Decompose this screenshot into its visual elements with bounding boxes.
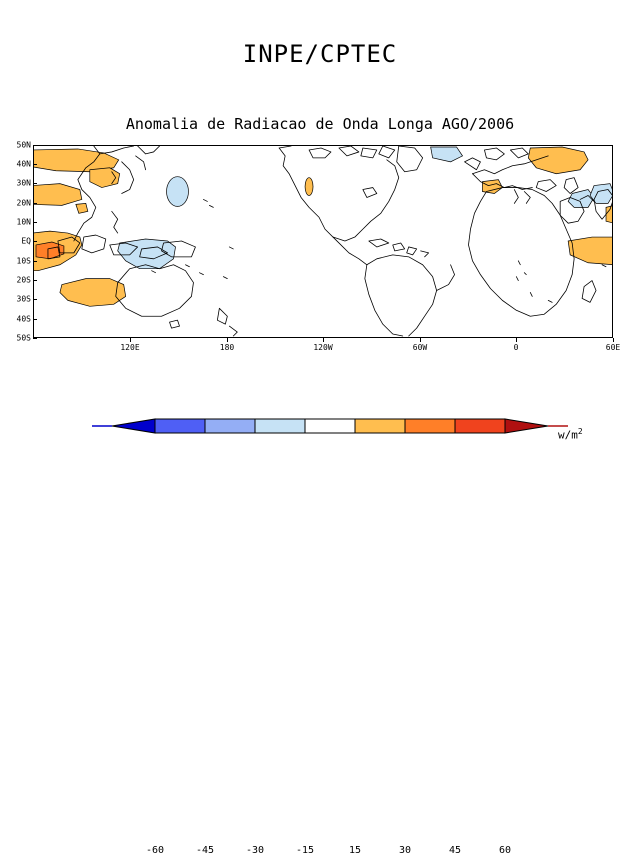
colorbar-over-arrow: [505, 419, 548, 433]
x-tick-mark: [130, 338, 131, 342]
colorbar-tick-15: 15: [349, 845, 361, 856]
colorbar-band--45--30: [205, 419, 255, 433]
units-text: w/m: [558, 429, 578, 442]
map-canvas: [34, 146, 612, 337]
y-tick-mark: [33, 222, 37, 223]
x-tick-label-60e: 60E: [606, 343, 620, 352]
region-baja-california-positive: [305, 178, 313, 196]
y-tick-label-30n: 30N: [17, 179, 31, 188]
colorbar-tick--45: -45: [196, 845, 214, 856]
colorbar-tick--15: -15: [296, 845, 314, 856]
region-south-china-positive: [34, 184, 82, 206]
region-iberia-morocco-positive: [482, 180, 502, 194]
region-korea-japan-positive: [90, 168, 120, 188]
colorbar: -60 -45 -30 -15 15 30 45 60: [0, 414, 640, 454]
colorbar-under-arrow: [112, 419, 155, 433]
page-title: INPE/CPTEC: [0, 40, 640, 68]
y-tick-mark: [33, 338, 37, 339]
y-tick-label-20s: 20S: [17, 276, 31, 285]
colorbar-tick-60: 60: [499, 845, 511, 856]
colorbar-tick--30: -30: [246, 845, 264, 856]
region-caspian-mesopotamia-positive: [528, 147, 588, 174]
region-indochina-positive: [76, 203, 88, 213]
colorbar-band--60--45: [155, 419, 205, 433]
region-australia-interior-positive: [60, 279, 126, 307]
colorbar-tick-45: 45: [449, 845, 461, 856]
y-tick-label-50n: 50N: [17, 141, 31, 150]
colorbar-tick-30: 30: [399, 845, 411, 856]
x-tick-label-60w: 60W: [413, 343, 427, 352]
units-label: w/m2: [558, 427, 583, 442]
x-tick-label-180: 180: [220, 343, 234, 352]
x-tick-label-120e: 120E: [120, 343, 139, 352]
region-southern-indian-ocean-positive: [568, 237, 612, 265]
y-tick-mark: [33, 280, 37, 281]
y-tick-mark: [33, 261, 37, 262]
colorbar-band-45-60: [455, 419, 505, 433]
anomaly-shading-layer: [34, 147, 612, 306]
y-tick-label-10n: 10N: [17, 218, 31, 227]
y-tick-mark: [33, 203, 37, 204]
x-tick-label-120w: 120W: [313, 343, 332, 352]
y-tick-label-30s: 30S: [17, 295, 31, 304]
colorbar-band--30--15: [255, 419, 305, 433]
y-tick-label-50s: 50S: [17, 334, 31, 343]
colorbar-band-15-30: [355, 419, 405, 433]
region-north-central-pacific-negative: [167, 177, 189, 207]
y-tick-mark: [33, 145, 37, 146]
x-tick-mark: [323, 338, 324, 342]
x-tick-mark: [420, 338, 421, 342]
x-tick-mark: [516, 338, 517, 342]
y-tick-mark: [33, 164, 37, 165]
y-tick-label-10s: 10S: [17, 257, 31, 266]
chart-subtitle: Anomalia de Radiacao de Onda Longa AGO/2…: [0, 115, 640, 133]
y-tick-label-20n: 20N: [17, 199, 31, 208]
region-north-atlantic-negative: [431, 147, 463, 162]
x-tick-mark: [227, 338, 228, 342]
x-tick-mark: [613, 338, 614, 342]
region-right-edge-positive: [606, 205, 612, 223]
units-exponent: 2: [578, 427, 583, 436]
y-tick-label-eq: EQ: [21, 237, 31, 246]
colorbar-tick--60: -60: [146, 845, 164, 856]
y-tick-label-40s: 40S: [17, 315, 31, 324]
y-tick-mark: [33, 299, 37, 300]
y-tick-label-40n: 40N: [17, 160, 31, 169]
colorbar-canvas: [0, 414, 640, 444]
y-tick-mark: [33, 319, 37, 320]
anomaly-map-plot: [33, 145, 613, 338]
y-tick-mark: [33, 241, 37, 242]
colorbar-band--15-15: [305, 419, 355, 433]
colorbar-band-30-45: [405, 419, 455, 433]
x-tick-label-0: 0: [514, 343, 519, 352]
y-tick-mark: [33, 183, 37, 184]
